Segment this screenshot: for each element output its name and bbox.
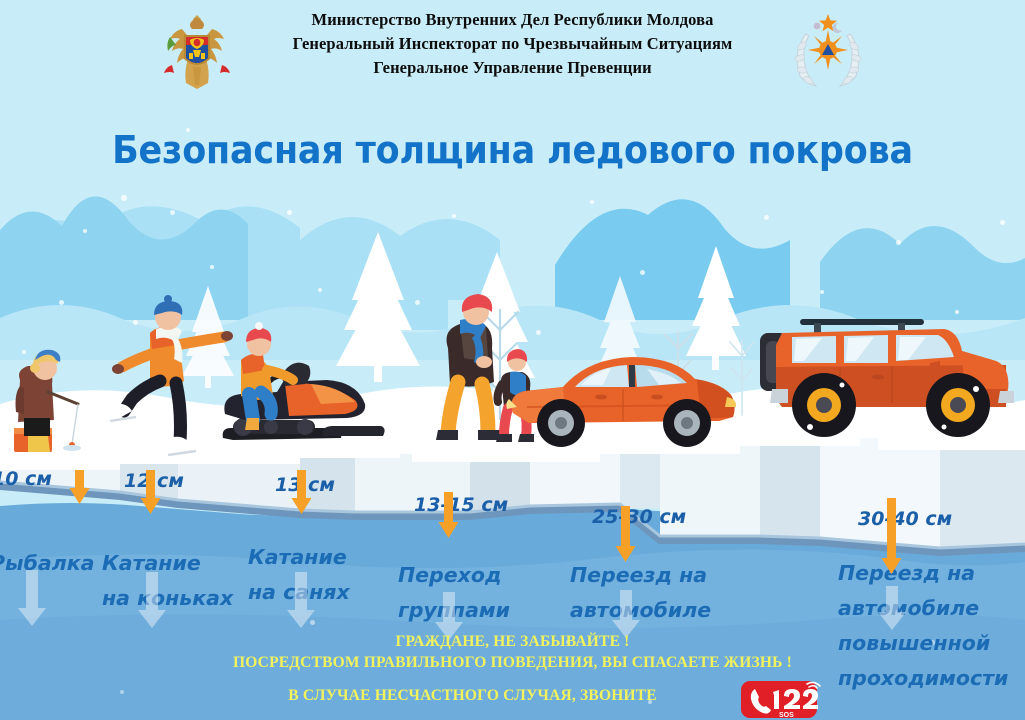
water-arrow-1 [18, 570, 46, 626]
emergency-112-badge[interactable]: SOS [739, 679, 823, 720]
header-line-1: Министерство Внутренних Дел Республики М… [230, 8, 795, 32]
header-band: Министерство Внутренних Дел Республики М… [0, 0, 1025, 100]
arrow-step-1 [70, 470, 90, 504]
warning-line-1: ГРАЖДАНЕ, НЕ ЗАБЫВАЙТЕ ! [0, 631, 1025, 652]
water-arrow-2 [138, 572, 166, 628]
arrow-step-4 [439, 492, 459, 538]
water-arrow-3 [287, 572, 315, 628]
warning-block: ГРАЖДАНЕ, НЕ ЗАБЫВАЙТЕ ! ПОСРЕДСТВОМ ПРА… [0, 631, 1025, 673]
arrow-step-6 [882, 498, 902, 574]
water-arrow-6 [878, 586, 906, 630]
warning-line-3: В СЛУЧАЕ НЕСЧАСТНОГО СЛУЧАЯ, ЗВОНИТЕ [0, 687, 985, 705]
svg-text:SOS: SOS [779, 712, 794, 719]
poster-root: Министерство Внутренних Дел Республики М… [0, 0, 1025, 720]
arrow-step-3 [292, 470, 312, 514]
thickness-arrows [0, 0, 1025, 720]
header-line-2: Генеральный Инспекторат по Чрезвычайным … [230, 32, 795, 56]
header-line-3: Генеральное Управление Превенции [230, 56, 795, 80]
header-title-block: Министерство Внутренних Дел Республики М… [230, 8, 795, 80]
warning-line-2: ПОСРЕДСТВОМ ПРАВИЛЬНОГО ПОВЕДЕНИЯ, ВЫ СП… [0, 652, 1025, 673]
arrow-step-5 [616, 506, 636, 562]
arrow-step-2 [141, 470, 161, 514]
moldova-coat-of-arms-icon [162, 9, 232, 91]
page-title: Безопасная толщина ледового покрова [41, 128, 984, 172]
igsu-emblem-icon [788, 10, 868, 90]
